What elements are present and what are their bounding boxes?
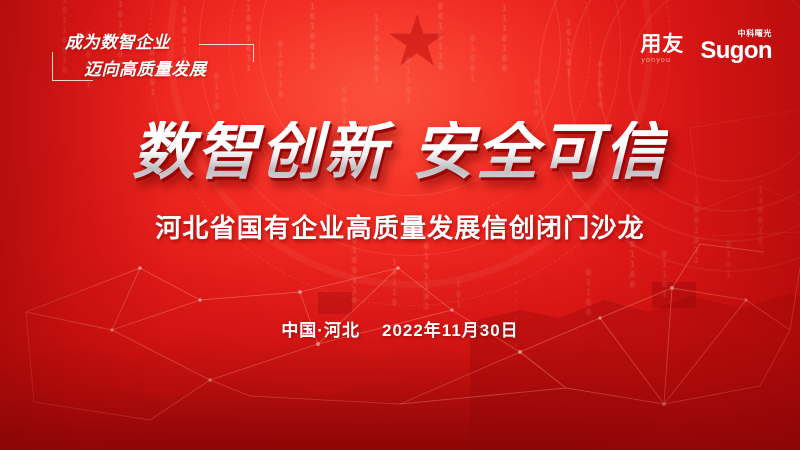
slogan-block: 成为数智企业 迈向高质量发展: [52, 28, 252, 90]
slogan-line-1: 成为数智企业: [65, 28, 170, 53]
sugon-logo-en: Sugon: [700, 39, 772, 63]
dateline-location: 中国·河北: [281, 321, 360, 340]
yonyou-logo-cn: 用友: [640, 34, 684, 55]
slogan-line-2: 迈向高质量发展: [84, 55, 207, 80]
yonyou-logo-en: yonyou: [641, 57, 671, 64]
dateline: 中国·河北2022年11月30日: [0, 316, 800, 341]
conference-banner: 1 0 1 1 0 0 1 00 1 0 0 1 11 1 0 1 0 1 0 …: [0, 0, 800, 450]
subtitle: 河北省国有企业高质量发展信创闭门沙龙: [0, 208, 800, 245]
main-title-wrap: 数智创新安全可信: [0, 121, 800, 184]
dateline-date: 2022年11月30日: [382, 321, 519, 340]
main-title-part-1: 数智创新: [132, 118, 388, 187]
yonyou-logo: 用友 yonyou: [640, 34, 684, 63]
sugon-logo-cn: 中科曙光: [738, 30, 772, 38]
main-title: 数智创新安全可信: [132, 121, 668, 184]
main-title-part-2: 安全可信: [412, 118, 668, 187]
slogan-bracket-top-right: [199, 44, 254, 62]
sugon-logo: 中科曙光 Sugon: [700, 30, 772, 63]
logo-group: 用友 yonyou 中科曙光 Sugon: [640, 30, 772, 63]
